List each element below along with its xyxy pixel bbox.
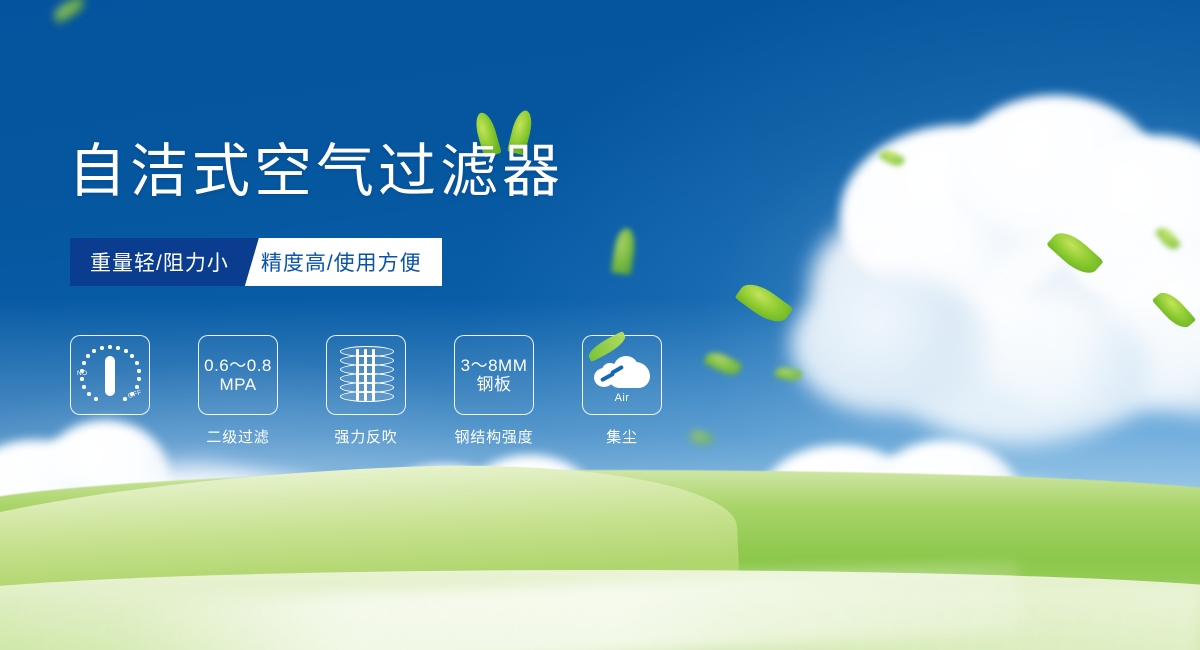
feature-icon-box: Air	[582, 335, 662, 415]
feature-icon-box: NO OFF	[70, 335, 150, 415]
gauge-needle	[105, 356, 115, 396]
feature-item-steel[interactable]: 3～8MM 钢板 钢结构强度	[454, 335, 534, 447]
pressure-text-icon: 0.6～0.8 MPA	[204, 356, 272, 394]
air-label: Air	[592, 392, 652, 404]
pressure-unit: MPA	[204, 375, 272, 394]
feature-item-controller[interactable]: NO OFF 控制仪	[70, 335, 150, 447]
tagline-right: 精度高/使用方便	[245, 238, 442, 286]
gauge-icon: NO OFF	[79, 344, 141, 406]
gauge-label-off: OFF	[127, 389, 142, 400]
banner-content: 自洁式空气过滤器 重量轻/阻力小 精度高/使用方便	[0, 0, 1200, 650]
steel-plate-text-icon: 3～8MM 钢板	[461, 356, 528, 394]
feature-icon-box: 3～8MM 钢板	[454, 335, 534, 415]
steel-thickness: 3～8MM	[461, 356, 528, 375]
feature-list: NO OFF 控制仪 0.6～0.8 MPA 二级过滤	[70, 335, 662, 447]
feature-label: 强力反吹	[334, 426, 397, 447]
feature-icon-box	[326, 335, 406, 415]
feature-item-dust[interactable]: Air 集尘	[582, 335, 662, 447]
page-title: 自洁式空气过滤器	[68, 143, 564, 201]
feature-icon-box: 0.6～0.8 MPA	[198, 335, 278, 415]
steel-material: 钢板	[461, 375, 528, 394]
feature-label: 控制仪	[86, 426, 133, 447]
air-cloud-icon: Air	[592, 350, 652, 400]
feature-label: 二级过滤	[206, 426, 269, 447]
tagline-bar: 重量轻/阻力小 精度高/使用方便	[70, 238, 442, 286]
pressure-value: 0.6～0.8	[204, 356, 272, 375]
gauge-label-no: NO	[77, 370, 87, 377]
feature-item-pressure[interactable]: 0.6～0.8 MPA 二级过滤	[198, 335, 278, 447]
coil-filter-icon	[340, 346, 392, 404]
tagline-left: 重量轻/阻力小	[70, 238, 259, 286]
feature-label: 钢结构强度	[454, 426, 533, 447]
feature-item-blowback[interactable]: 强力反吹	[326, 335, 406, 447]
product-banner: 自洁式空气过滤器 重量轻/阻力小 精度高/使用方便	[0, 0, 1200, 650]
feature-label: 集尘	[606, 426, 638, 447]
